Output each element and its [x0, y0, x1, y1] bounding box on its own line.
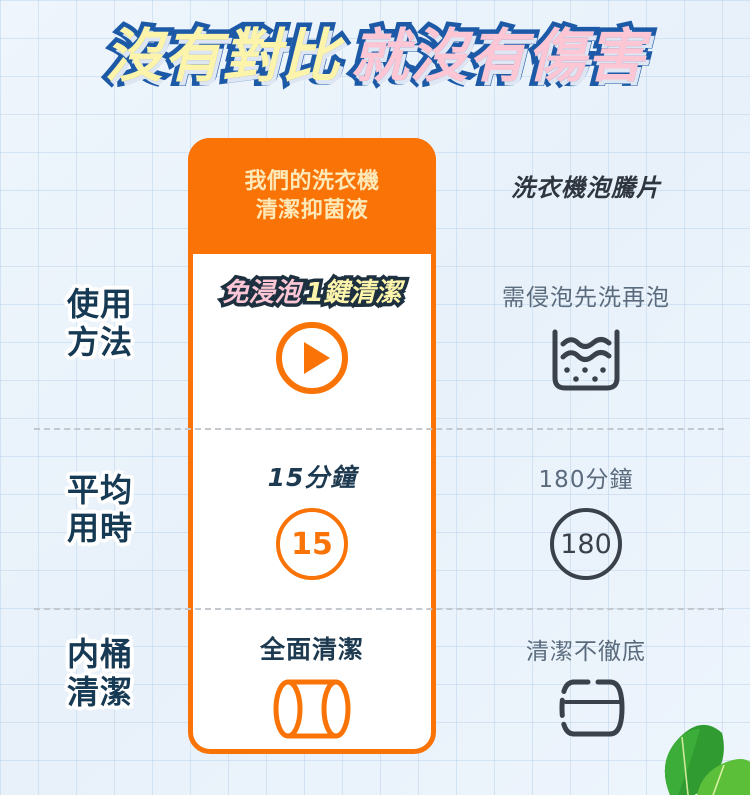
- soak-basin-icon: [543, 324, 629, 402]
- number-circle-icon-180: 180: [550, 508, 622, 580]
- theirs-usage-icon-wrap: [436, 324, 736, 402]
- theirs-drum-text: 清潔不徹底: [436, 632, 736, 666]
- highlighted-product-header: 我們的洗衣機 清潔抑菌液: [188, 138, 436, 254]
- row-label-usage-method: 使用 方法: [14, 286, 186, 362]
- theirs-time-icon-wrap: 180: [436, 508, 736, 580]
- competitor-column-header: 洗衣機泡騰片: [436, 168, 736, 203]
- ours-time-icon-wrap: 15: [188, 508, 436, 580]
- infographic-page: 沒有對比就沒有傷害 我們的洗衣機 清潔抑菌液 洗衣機泡騰片 使用 方法 免浸泡 …: [0, 0, 750, 795]
- drum-solid-icon: [266, 674, 358, 748]
- table-row-average-time: 平均 用時 15分鐘 15 180分鐘 180: [0, 428, 750, 608]
- page-title: 沒有對比就沒有傷害: [0, 26, 750, 87]
- leaf-icon: [626, 699, 750, 795]
- badge-one-key-clean: 1鍵清潔: [305, 272, 401, 309]
- page-title-part-b: 就沒有傷害: [351, 26, 646, 87]
- row-label-line-1: 内桶: [14, 636, 186, 674]
- highlighted-product-header-line-2: 清潔抑菌液: [256, 196, 369, 225]
- page-title-part-a: 沒有對比: [104, 26, 340, 87]
- theirs-usage-text: 需侵泡先洗再泡: [436, 278, 736, 312]
- row-label-line-1: 平均: [14, 472, 186, 510]
- theirs-time-text: 180分鐘: [436, 460, 736, 494]
- number-circle-icon-15: 15: [276, 508, 348, 580]
- play-circle-icon: [272, 318, 352, 402]
- ours-usage-icon-wrap: [188, 318, 436, 402]
- ours-drum-text: 全面清潔: [188, 630, 436, 666]
- row-separator: [34, 428, 724, 430]
- row-label-line-2: 方法: [14, 324, 186, 362]
- row-label-line-2: 清潔: [14, 674, 186, 712]
- ours-drum-icon-wrap: [188, 674, 436, 748]
- ours-usage-badges: 免浸泡 1鍵清潔: [188, 272, 436, 309]
- row-label-line-1: 使用: [14, 286, 186, 324]
- drum-dashed-icon: [540, 672, 632, 748]
- row-label-line-2: 用時: [14, 510, 186, 548]
- comparison-table: 我們的洗衣機 清潔抑菌液 洗衣機泡騰片 使用 方法 免浸泡 1鍵清潔: [0, 138, 750, 768]
- row-label-drum-cleaning: 内桶 清潔: [14, 636, 186, 712]
- row-label-average-time: 平均 用時: [14, 472, 186, 548]
- badge-no-soak: 免浸泡: [222, 272, 300, 309]
- row-separator: [34, 608, 724, 610]
- highlighted-product-header-line-1: 我們的洗衣機: [244, 167, 379, 196]
- table-row-usage-method: 使用 方法 免浸泡 1鍵清潔 需侵泡先洗再泡: [0, 254, 750, 428]
- ours-time-text: 15分鐘: [188, 458, 436, 494]
